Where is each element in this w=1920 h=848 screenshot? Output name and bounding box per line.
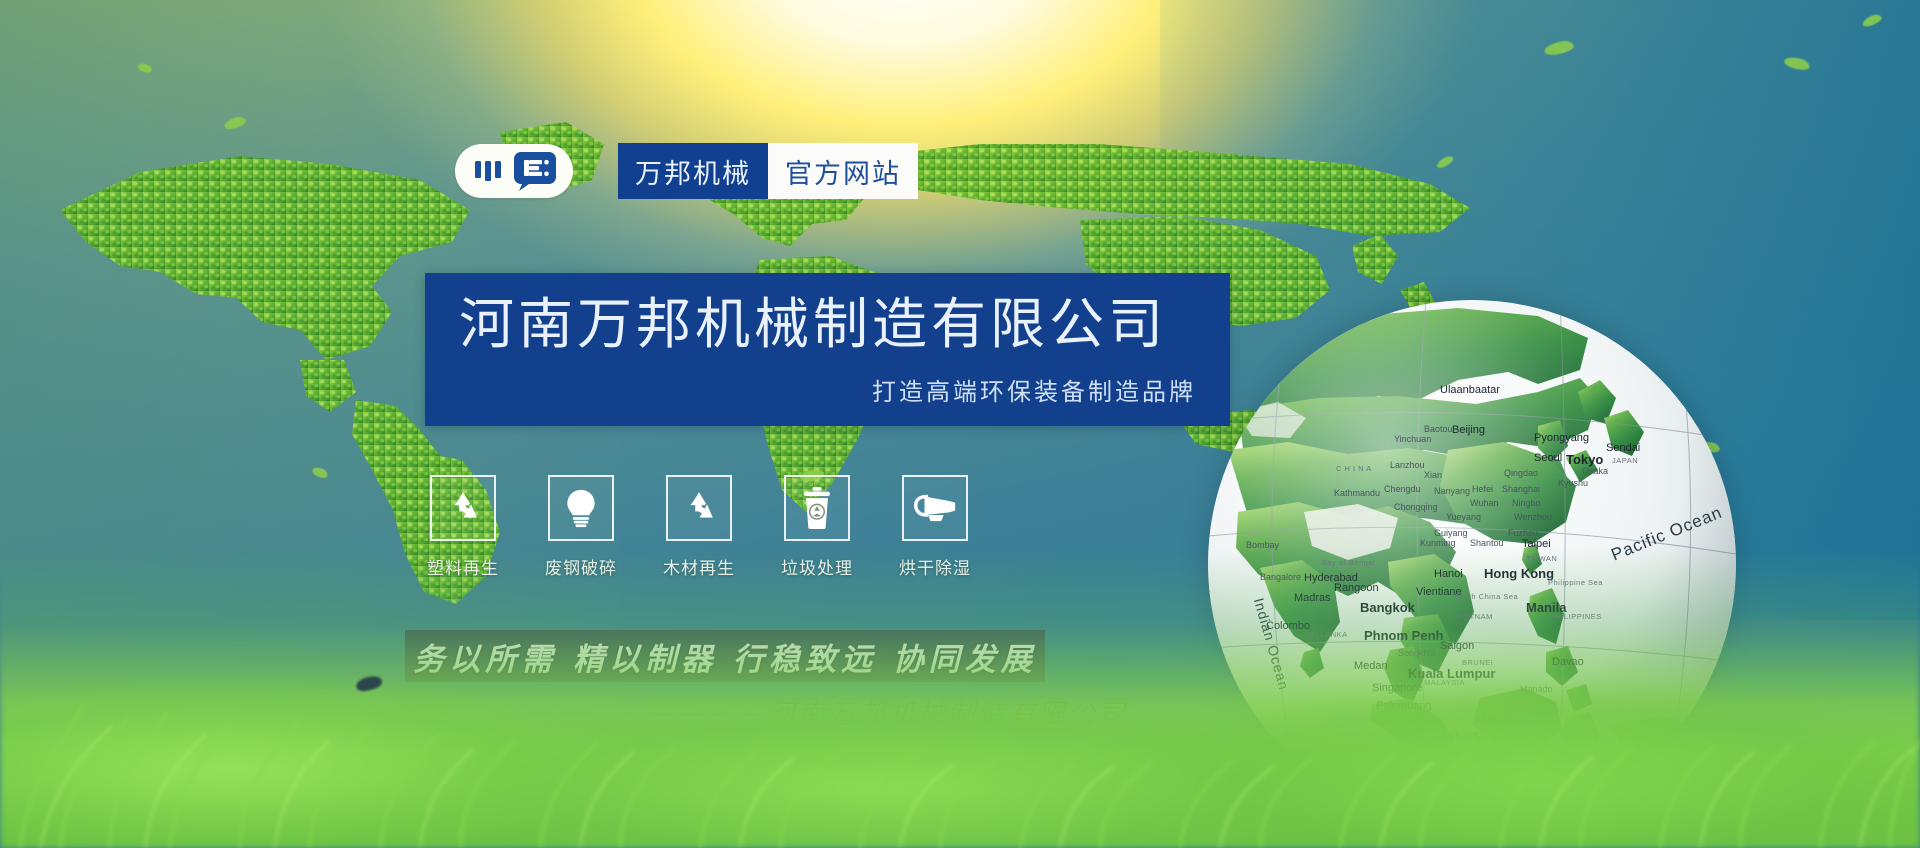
trash-bin-icon [801, 487, 833, 529]
site-header: 万邦机械 官方网站 [455, 143, 918, 199]
lightbulb-icon [563, 488, 599, 528]
tab-wanbang-jixie[interactable]: 万邦机械 [618, 143, 768, 199]
feature-icon-box [902, 475, 968, 541]
recycle-icon [680, 489, 718, 527]
recycle-icon [444, 489, 482, 527]
header-tabs: 万邦机械 官方网站 [618, 143, 918, 199]
tab-label: 万邦机械 [635, 152, 751, 191]
grass-blades [0, 608, 1920, 848]
tab-label: 官方网站 [785, 152, 901, 191]
feature-icon-box [548, 475, 614, 541]
tab-official-site[interactable]: 官方网站 [768, 143, 918, 199]
blower-dryer-icon [914, 493, 956, 523]
page-title: 河南万邦机械制造有限公司 [425, 297, 1230, 352]
logo-b-bubble-icon [513, 150, 557, 192]
company-title-banner: 河南万邦机械制造有限公司 打造高端环保装备制造品牌 [425, 273, 1230, 426]
feature-icon-box [666, 475, 732, 541]
page-subtitle: 打造高端环保装备制造品牌 [425, 372, 1230, 407]
logo-w-icon [472, 156, 506, 186]
feature-icon-box [430, 475, 496, 541]
feature-icon-box [784, 475, 850, 541]
wanbang-logo[interactable] [455, 144, 573, 198]
hero-banner: Ulaanbaatar Beijing Baotou Yinchuan Lanz… [0, 0, 1920, 848]
